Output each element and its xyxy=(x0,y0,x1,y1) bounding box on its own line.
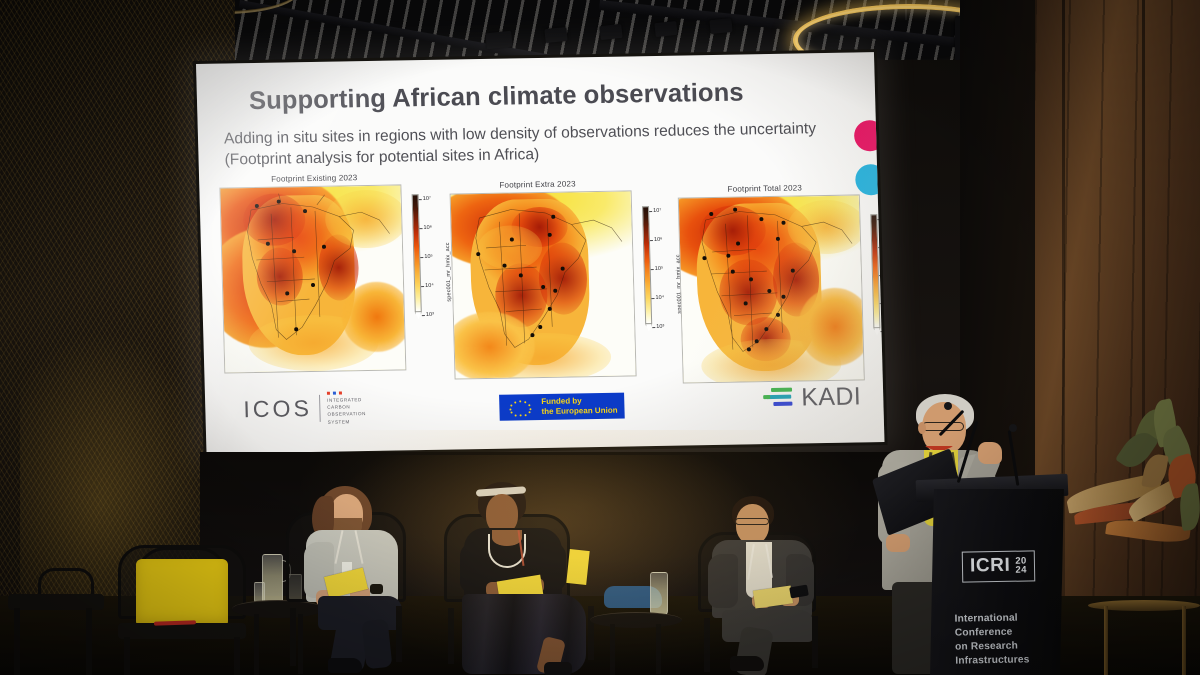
colorbar-tick: 10⁴ xyxy=(425,283,434,289)
colorbar-tick: 10⁷ xyxy=(423,196,431,202)
water-carafe xyxy=(262,554,283,606)
chair-leg xyxy=(704,618,710,672)
map-image xyxy=(450,190,637,379)
map-caption: Footprint Total 2023 xyxy=(727,183,802,193)
icri-tagline-line1: International xyxy=(955,611,1029,626)
station-marker xyxy=(476,252,480,256)
station-marker xyxy=(255,204,259,208)
station-marker xyxy=(744,301,748,305)
station-marker xyxy=(548,233,552,237)
colorbar-gradient xyxy=(412,194,422,312)
colorbar-tick: 10³ xyxy=(426,312,434,318)
eu-funding-text: Funded by the European Union xyxy=(541,396,618,417)
speaker-hand-raised xyxy=(978,442,1002,464)
station-marker xyxy=(548,307,552,311)
panelist-shoe xyxy=(730,656,764,671)
icos-tagline-line: INTEGRATED xyxy=(327,397,366,403)
icri-tagline-line3: on Research xyxy=(955,640,1029,655)
table-leg xyxy=(656,624,661,674)
icos-logo: ICOS INTEGRATED CARBON OBSERVATION SYSTE… xyxy=(243,391,366,426)
projection-screen: Supporting African climate observations … xyxy=(196,52,884,454)
dried-frond xyxy=(1105,516,1191,546)
icri-year-bottom: 24 xyxy=(1015,566,1027,575)
station-marker xyxy=(747,347,751,351)
icos-wordmark: ICOS xyxy=(243,395,312,423)
station-marker xyxy=(530,333,534,337)
station-marker xyxy=(285,291,289,295)
microphone-head xyxy=(1009,424,1017,432)
station-marker xyxy=(702,256,706,260)
plant-stand-leg xyxy=(1182,606,1186,675)
station-marker xyxy=(731,270,735,274)
floral-arrangement xyxy=(1080,400,1200,615)
spare-notepad-on-chair xyxy=(566,549,589,585)
chair-leg xyxy=(448,608,454,664)
chair-cushion xyxy=(136,559,228,627)
station-marker xyxy=(767,289,771,293)
chair-leg xyxy=(290,608,296,666)
coastline-svg xyxy=(679,195,865,383)
eu-flag-icon xyxy=(505,397,536,418)
panelist-shoe xyxy=(328,658,362,673)
station-marker xyxy=(736,242,740,246)
eu-funding-line2: the European Union xyxy=(541,406,617,417)
chair-leg xyxy=(14,608,20,675)
station-marker xyxy=(776,313,780,317)
station-marker xyxy=(749,277,753,281)
map-caption: Footprint Existing 2023 xyxy=(271,173,357,184)
icos-divider xyxy=(319,395,321,422)
colorbar-tick: 10⁴ xyxy=(655,295,664,301)
icos-square-red xyxy=(327,392,330,395)
icos-tagline: INTEGRATED CARBON OBSERVATION SYSTEM xyxy=(327,391,366,425)
chair-seat xyxy=(118,623,246,639)
station-marker xyxy=(781,295,785,299)
station-marker xyxy=(776,237,780,241)
station-marker xyxy=(709,212,713,216)
icri-year: 20 24 xyxy=(1015,556,1027,574)
kadi-logo: KADI xyxy=(763,382,862,413)
map-coastlines xyxy=(679,195,864,382)
station-marker xyxy=(538,325,542,329)
icos-tagline-line: OBSERVATION xyxy=(327,411,366,417)
station-marker xyxy=(503,264,507,268)
station-marker xyxy=(733,208,737,212)
colorbar-tick: 10⁷ xyxy=(653,208,661,214)
station-marker xyxy=(781,221,785,225)
wood-panel-seam xyxy=(1062,0,1065,675)
speaker-ear xyxy=(918,422,926,434)
station-marker xyxy=(726,254,730,258)
water-carafe xyxy=(650,572,668,616)
station-marker xyxy=(791,269,795,273)
kadi-mark-icon xyxy=(763,386,794,411)
station-marker xyxy=(292,249,296,253)
icri-tagline: International Conference on Research Inf… xyxy=(955,611,1030,669)
slide-title: Supporting African climate observations xyxy=(249,77,830,115)
map-caption: Footprint Extra 2023 xyxy=(499,179,576,189)
station-marker xyxy=(553,289,557,293)
panelist-middle xyxy=(452,478,622,675)
panelist-leg xyxy=(362,619,393,669)
panelist-right xyxy=(702,492,862,675)
speaker-hand xyxy=(886,534,910,552)
map-image xyxy=(219,184,406,373)
chair-leg xyxy=(86,608,92,675)
colorbar-tick: 10³ xyxy=(656,324,664,330)
colorbar-gradient xyxy=(642,206,652,324)
station-marker xyxy=(561,267,565,271)
icri-wordmark: ICRI xyxy=(970,555,1011,578)
chair-leg xyxy=(588,606,594,660)
conference-hall-scene: Supporting African climate observations … xyxy=(0,0,1200,675)
icri-tagline-line2: Conference xyxy=(955,625,1029,640)
table-leg xyxy=(610,624,615,675)
eyeglasses xyxy=(735,518,769,525)
microphone-head xyxy=(944,402,952,410)
station-marker xyxy=(277,200,281,204)
station-marker xyxy=(311,283,315,287)
icos-tagline-line: SYSTEM xyxy=(328,419,367,425)
station-marker xyxy=(510,237,514,241)
plant-stand-leg xyxy=(1104,606,1108,675)
icri-logo-plate: ICRI 20 24 xyxy=(962,550,1035,582)
station-marker xyxy=(322,245,326,249)
chair-far-left xyxy=(8,548,104,675)
station-marker xyxy=(759,217,763,221)
slide-subtitle: Adding in situ sites in regions with low… xyxy=(224,119,845,171)
chair-leg xyxy=(124,637,130,675)
panelist-shoe xyxy=(544,662,572,675)
panelist-wristband xyxy=(370,584,383,594)
chair-armrest xyxy=(38,568,94,594)
eu-funding-logo: Funded by the European Union xyxy=(499,393,625,421)
chair-leg xyxy=(396,606,402,662)
colorbar-tick: 10⁶ xyxy=(423,225,432,231)
panelist-left xyxy=(292,480,442,675)
panelist-arm xyxy=(708,554,738,608)
colorbar-tick: 10⁶ xyxy=(654,237,663,243)
station-marker xyxy=(519,273,523,277)
icri-tagline-line4: Infrastructures xyxy=(955,654,1029,669)
station-marker xyxy=(755,339,759,343)
icos-square-blue xyxy=(333,392,336,395)
table-top xyxy=(590,612,682,628)
map-coastlines xyxy=(220,185,405,372)
map-image xyxy=(678,194,865,383)
chair-leg xyxy=(812,616,818,668)
station-marker xyxy=(541,285,545,289)
station-marker xyxy=(266,242,270,246)
chair-leg xyxy=(234,637,240,675)
station-marker xyxy=(764,327,768,331)
colorbar-tick: 10⁵ xyxy=(655,266,664,272)
table-leg xyxy=(254,614,259,675)
icos-color-squares xyxy=(327,391,366,395)
station-marker xyxy=(294,327,298,331)
station-marker xyxy=(303,209,307,213)
station-marker xyxy=(551,215,555,219)
kadi-wordmark: KADI xyxy=(801,382,862,412)
icos-tagline-line: CARBON xyxy=(327,404,366,410)
panelist-arm xyxy=(460,542,488,592)
icos-square-red xyxy=(338,391,341,394)
colorbar-tick: 10⁵ xyxy=(424,254,433,260)
coastline-svg xyxy=(220,185,406,373)
